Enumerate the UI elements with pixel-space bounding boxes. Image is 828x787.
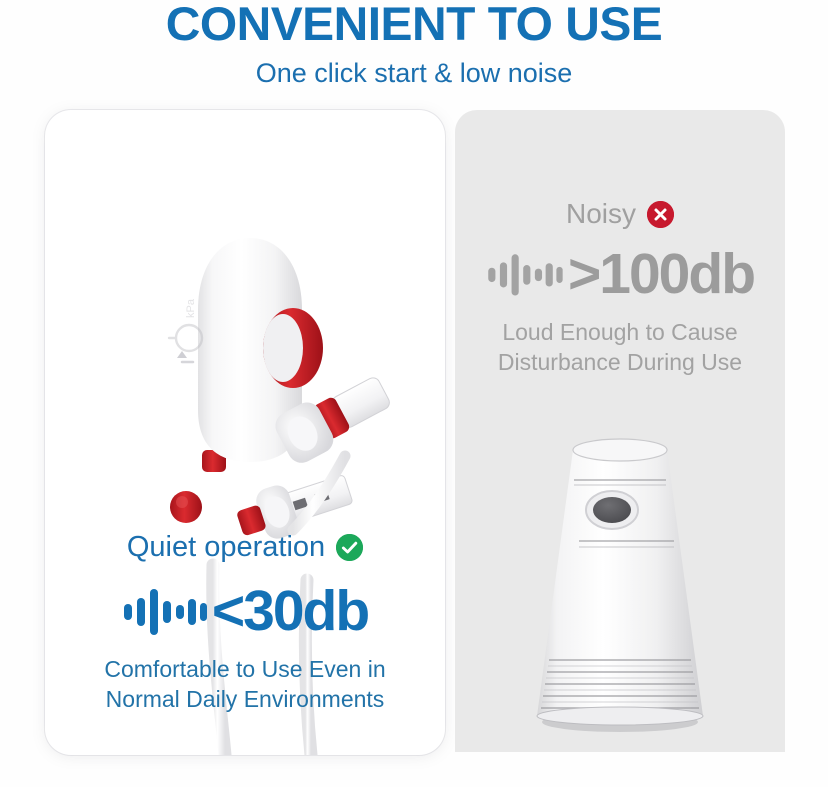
quiet-status-row: Quiet operation [45,528,445,566]
noisy-status-row: Noisy [455,195,785,233]
svg-text:kPa: kPa [185,298,197,318]
noisy-description-line-1: Loud Enough to Cause [455,317,785,347]
quiet-db-row: <30db [45,580,445,642]
quiet-description: Comfortable to Use Even in Normal Daily … [45,654,445,714]
sound-wave-icon [122,582,208,640]
noisy-description-line-2: Disturbance During Use [455,347,785,377]
noisy-db-row: >100db [455,243,785,305]
noisy-product-illustration [455,428,785,752]
quiet-description-line-1: Comfortable to Use Even in [45,654,445,684]
noisy-product-panel: Noisy [455,110,785,752]
noisy-db-value: >100db [568,245,754,303]
header: CONVENIENT TO USE One click start & low … [0,0,828,90]
page-subtitle: One click start & low noise [0,56,828,90]
infographic-page: CONVENIENT TO USE One click start & low … [0,0,828,787]
quiet-text-block: Quiet operation [45,528,445,714]
quiet-description-line-2: Normal Daily Environments [45,684,445,714]
quiet-db-value: <30db [212,582,368,640]
check-circle-icon [336,534,363,561]
noisy-status-label: Noisy [566,198,636,230]
quiet-product-panel: kPa [45,110,445,755]
noisy-description: Loud Enough to Cause Disturbance During … [455,317,785,377]
x-circle-icon [647,201,674,228]
page-title: CONVENIENT TO USE [0,0,828,48]
sound-wave-icon [486,248,564,300]
noisy-text-block: Noisy [455,195,785,377]
quiet-status-label: Quiet operation [127,531,325,564]
